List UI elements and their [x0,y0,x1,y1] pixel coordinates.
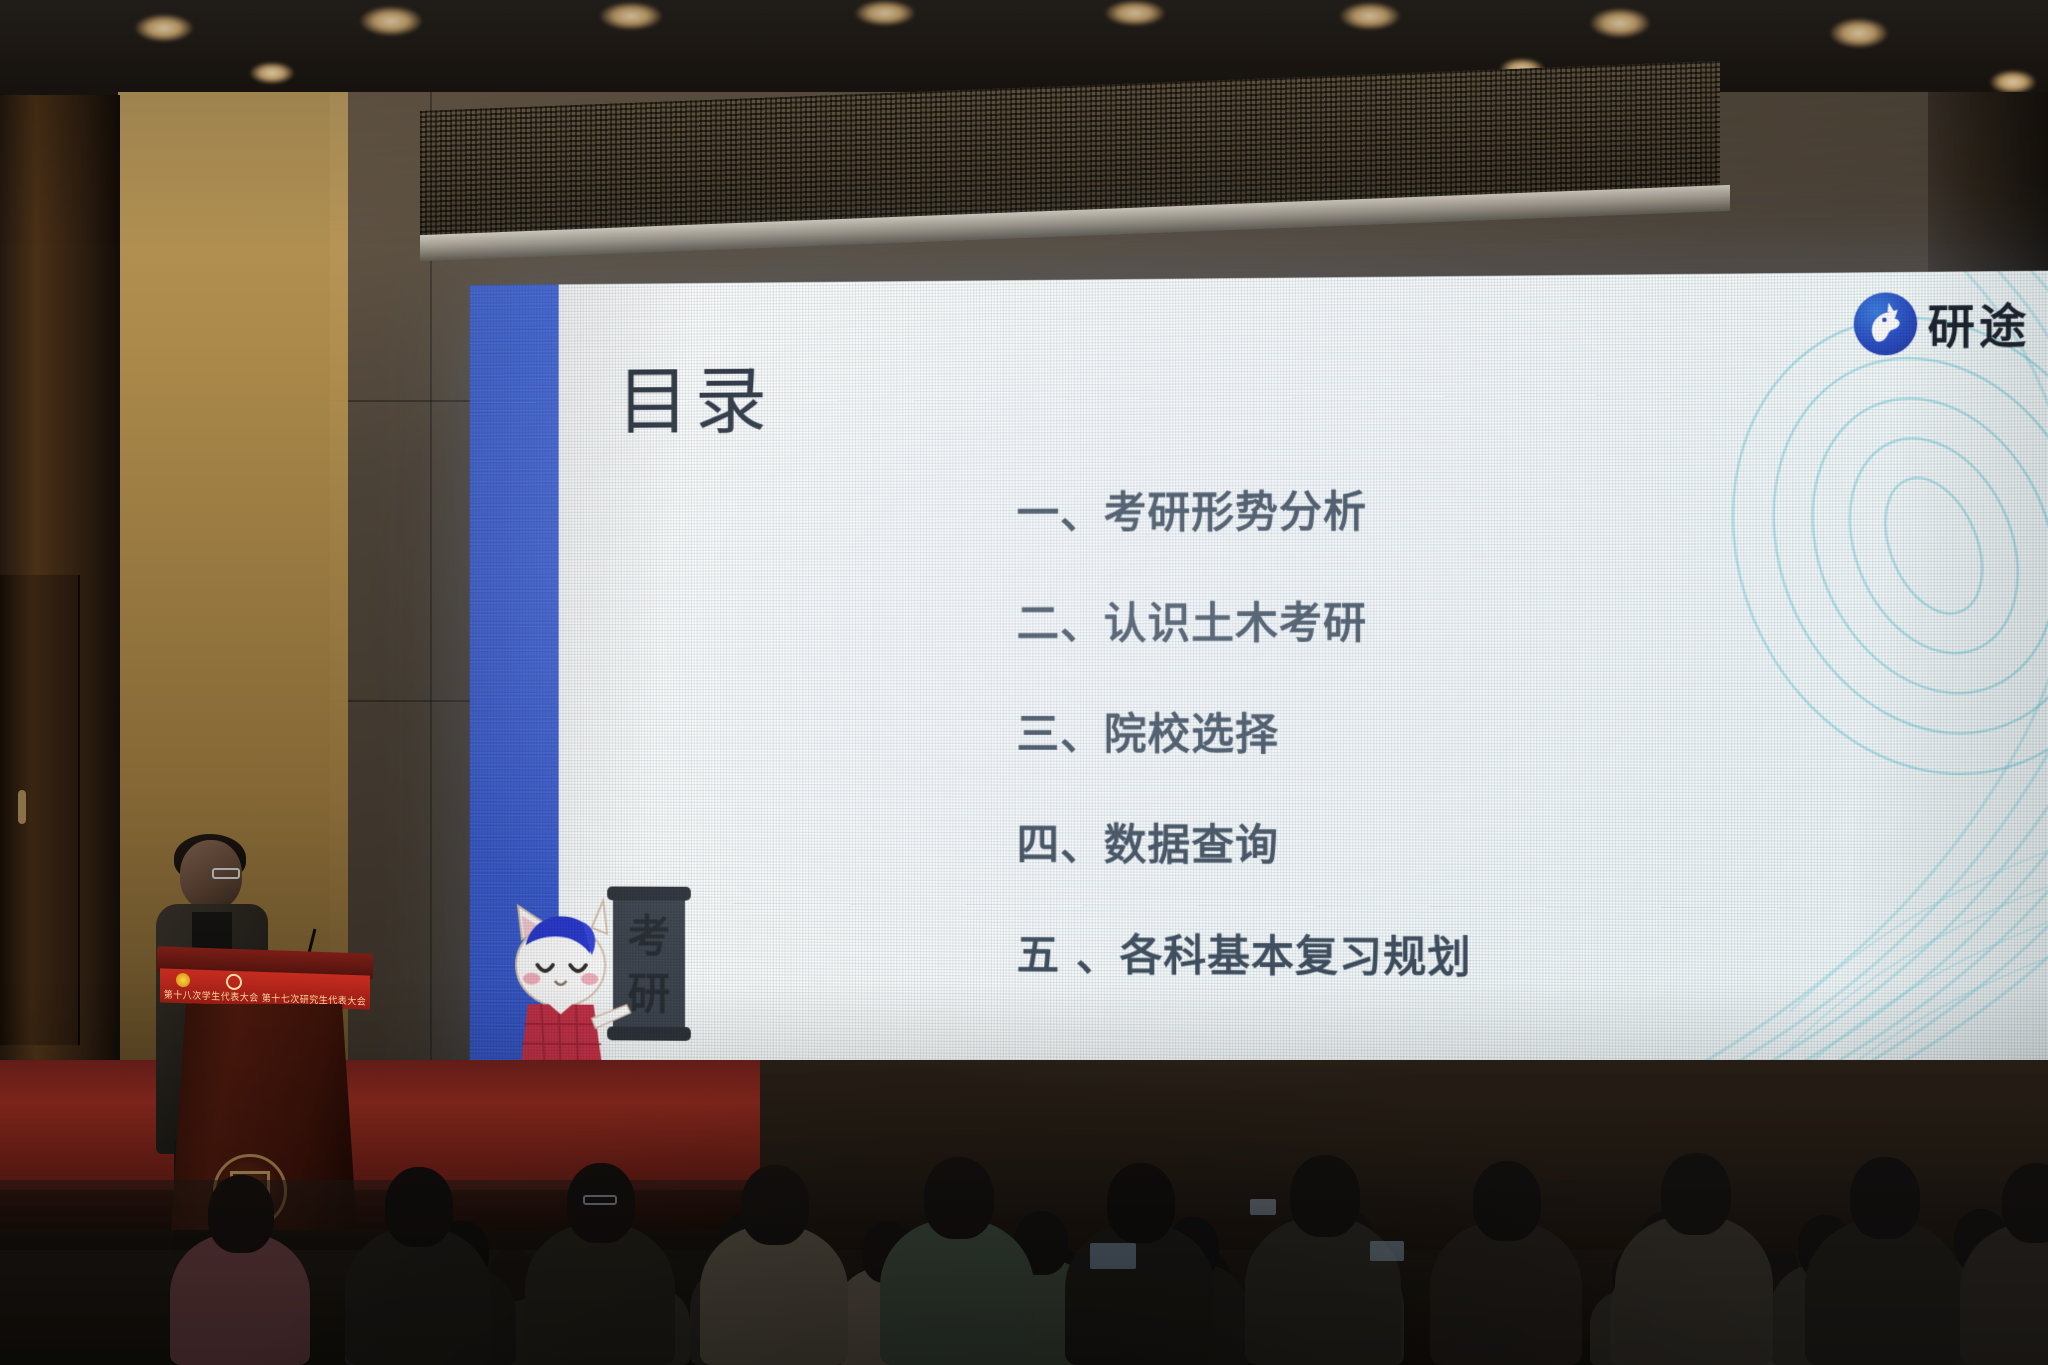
presentation-slide: 研途 目录 一、 考研形势分析 二、 认识土木考研 三、 [470,271,2048,1105]
led-screen-frame: 研途 目录 一、 考研形势分析 二、 认识土木考研 三、 [470,271,2048,1141]
toc-item[interactable]: 二、 认识土木考研 [1017,588,1740,651]
device-glow [1090,1243,1136,1269]
audience-member [1960,1135,2048,1365]
toc-list: 一、 考研形势分析 二、 认识土木考研 三、 院校选择 四、 数据查询 [1017,476,1740,1037]
toc-item-number: 二、 [1017,589,1104,651]
toc-item-label: 各科基本复习规划 [1120,921,1472,985]
toc-item[interactable]: 五 、 各科基本复习规划 [1017,921,1740,987]
audience-member [880,1133,1034,1365]
ceiling-light-icon [250,62,294,84]
audience-member [345,1143,491,1365]
ceiling-light-icon [1590,8,1650,38]
audience-member [1805,1131,1961,1365]
toc-item[interactable]: 四、 数据查询 [1017,810,1740,874]
school-crest-icon [226,974,242,991]
toc-item[interactable]: 一、 考研形势分析 [1017,476,1740,541]
unicorn-head-icon [1854,292,1918,355]
slide-title: 目录 [617,342,773,449]
cat-mascot-icon: 考 研 [499,870,722,1088]
audience-member [170,1150,310,1365]
podium-banner: 第十八次学生代表大会 第十七次研究生代表大会 [160,968,370,1009]
brand-name: 研途 [1928,289,2031,357]
glasses-icon [583,1195,617,1205]
toc-item-label: 认识土木考研 [1104,589,1367,651]
ceiling-light-icon [1105,0,1165,26]
brand-logo: 研途 [1854,289,2031,357]
toc-item-number: 一、 [1017,479,1104,541]
toc-item-label: 院校选择 [1104,700,1279,762]
ceiling-light-icon [855,0,915,26]
hall-door[interactable] [0,575,80,1045]
ceiling-light-icon [1830,18,1888,48]
toc-item-label: 数据查询 [1104,811,1279,873]
audience-member [525,1137,675,1365]
ceiling-light-icon [135,14,193,42]
audience [0,1080,2048,1365]
toc-item-label: 考研形势分析 [1104,477,1367,540]
ceiling-light-icon [600,2,662,30]
svg-text:考: 考 [628,913,671,963]
lecture-hall-scene: 研途 目录 一、 考研形势分析 二、 认识土木考研 三、 [0,0,2048,1365]
toc-item-number: 三、 [1017,700,1104,762]
door-handle-icon[interactable] [18,790,26,824]
led-screen: 研途 目录 一、 考研形势分析 二、 认识土木考研 三、 [470,271,2048,1105]
audience-member [1065,1137,1215,1365]
toc-item[interactable]: 三、 院校选择 [1017,700,1740,763]
toc-item-number: 五 、 [1017,921,1120,983]
audience-member [1615,1127,1773,1365]
audience-member [1430,1135,1582,1365]
device-glow [1370,1241,1404,1261]
school-crest-icon [176,973,190,987]
audience-member [700,1141,848,1365]
ceiling-light-icon [1990,70,2036,94]
device-glow [1250,1199,1276,1215]
ceiling-light-icon [360,6,422,36]
ceiling-light-icon [1340,2,1400,30]
glasses-icon [212,868,240,879]
toc-item-number: 四、 [1017,810,1104,872]
svg-text:研: 研 [628,970,671,1020]
